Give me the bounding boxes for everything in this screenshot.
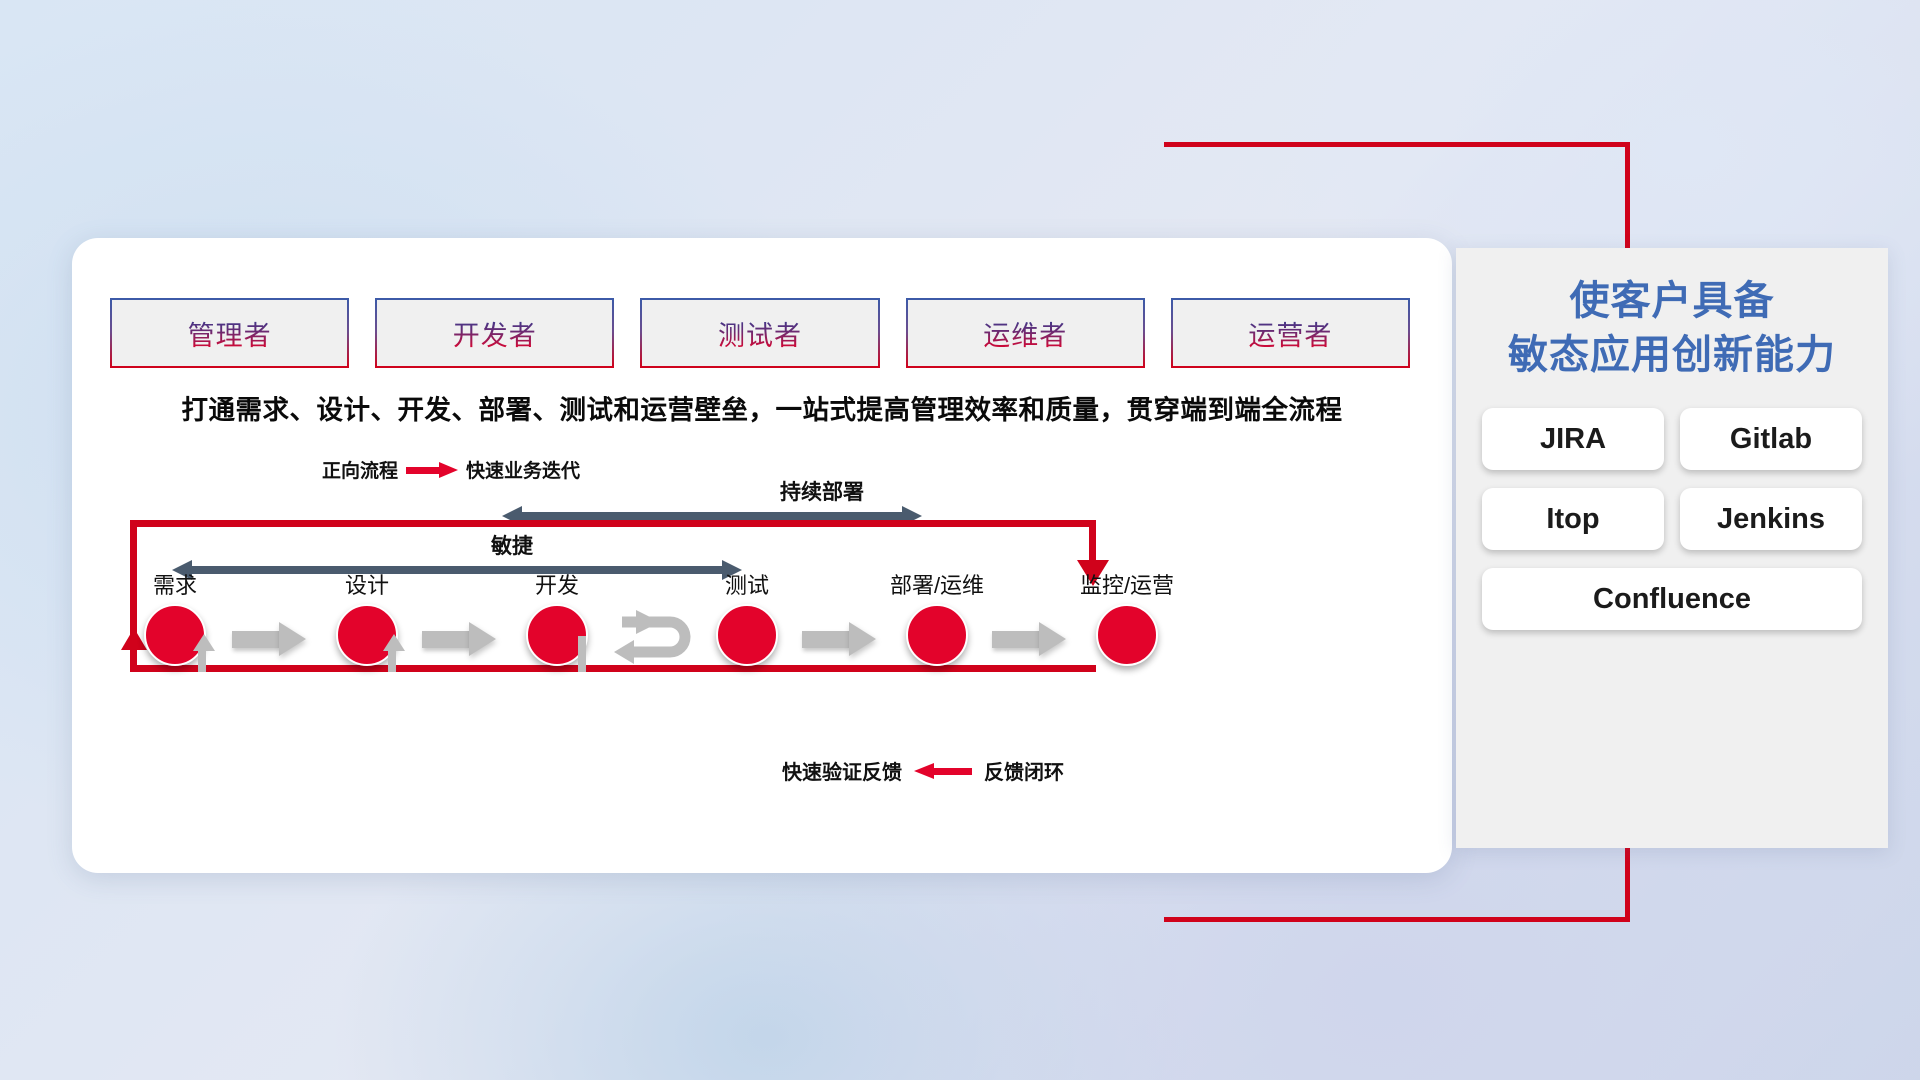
stage-label: 开发 bbox=[492, 568, 622, 600]
arrow-left-red-icon bbox=[914, 763, 972, 779]
stage-monitor-operate[interactable]: 监控/运营 bbox=[1062, 568, 1192, 666]
stage-dot-icon bbox=[716, 604, 778, 666]
stage-dot-icon bbox=[906, 604, 968, 666]
stage-requirement[interactable]: 需求 bbox=[110, 568, 240, 666]
role-box-operations[interactable]: 运维者 bbox=[906, 298, 1145, 368]
main-diagram-card: 管理者 开发者 测试者 运维者 运营者 打通需求、设计、开发、部署、测试和运营壁… bbox=[72, 238, 1452, 873]
role-box-tester[interactable]: 测试者 bbox=[640, 298, 879, 368]
stage-label: 需求 bbox=[110, 568, 240, 600]
stage-deploy-ops[interactable]: 部署/运维 bbox=[872, 568, 1002, 666]
gray-arrow-req-to-design-icon bbox=[232, 622, 306, 656]
stage-dot-icon bbox=[1096, 604, 1158, 666]
role-box-manager[interactable]: 管理者 bbox=[110, 298, 349, 368]
legend-forward-flow-label: 正向流程 bbox=[322, 456, 398, 483]
gray-arrow-deploy-to-monitor-icon bbox=[992, 622, 1066, 656]
tool-chip-jenkins[interactable]: Jenkins bbox=[1680, 488, 1862, 550]
role-box-business-operator[interactable]: 运营者 bbox=[1171, 298, 1410, 368]
stage-label: 部署/运维 bbox=[872, 568, 1002, 600]
role-boxes-row: 管理者 开发者 测试者 运维者 运营者 bbox=[110, 298, 1410, 368]
loopback-curved-arrow-icon bbox=[612, 606, 708, 668]
legend-feedback-loop: 快速验证反馈 反馈闭环 bbox=[782, 756, 1064, 785]
legend-forward-flow: 正向流程 快速业务迭代 bbox=[322, 456, 580, 483]
legend-feedback-label: 反馈闭环 bbox=[984, 756, 1064, 785]
riser-design bbox=[198, 650, 206, 672]
stage-label: 监控/运营 bbox=[1062, 568, 1192, 600]
arrow-shaft bbox=[992, 631, 1040, 648]
riser-head-development-icon bbox=[383, 634, 405, 651]
role-box-developer[interactable]: 开发者 bbox=[375, 298, 614, 368]
role-label: 运维者 bbox=[983, 314, 1067, 353]
arrow-head-right bbox=[469, 622, 496, 656]
role-label: 管理者 bbox=[188, 314, 272, 353]
tool-chip-confluence[interactable]: Confluence bbox=[1482, 568, 1862, 630]
gray-arrow-test-to-deploy-icon bbox=[802, 622, 876, 656]
value-proposition-panel: 使客户具备 敏态应用创新能力 JIRA Gitlab Itop Jenkins … bbox=[1456, 248, 1888, 848]
red-loop-top-rail bbox=[130, 520, 1096, 527]
panel-title-line-2: 敏态应用创新能力 bbox=[1482, 328, 1862, 382]
tool-chip-jira[interactable]: JIRA bbox=[1482, 408, 1664, 470]
stage-label: 测试 bbox=[682, 568, 812, 600]
panel-title: 使客户具备 敏态应用创新能力 bbox=[1482, 274, 1862, 382]
riser-development bbox=[388, 650, 396, 672]
arrow-head-right bbox=[849, 622, 876, 656]
stage-label: 设计 bbox=[302, 568, 432, 600]
legend-forward-flow-result: 快速业务迭代 bbox=[466, 456, 580, 483]
arrow-head-right bbox=[279, 622, 306, 656]
stage-development[interactable]: 开发 bbox=[492, 568, 622, 666]
arrow-shaft bbox=[518, 512, 906, 520]
legend-feedback-result: 快速验证反馈 bbox=[782, 756, 902, 785]
role-label: 运营者 bbox=[1248, 314, 1332, 353]
arrow-shaft bbox=[422, 631, 470, 648]
role-label: 开发者 bbox=[453, 314, 537, 353]
span-label-continuous-deployment: 持续部署 bbox=[672, 476, 972, 506]
tool-chip-itop[interactable]: Itop bbox=[1482, 488, 1664, 550]
gray-arrow-design-to-dev-icon bbox=[422, 622, 496, 656]
span-label-agile: 敏捷 bbox=[302, 530, 722, 560]
panel-title-line-1: 使客户具备 bbox=[1482, 274, 1862, 328]
arrow-shaft bbox=[802, 631, 850, 648]
tools-grid: JIRA Gitlab Itop Jenkins Confluence bbox=[1482, 408, 1862, 630]
riser-head-design-icon bbox=[193, 634, 215, 651]
arrow-head-right bbox=[1039, 622, 1066, 656]
headline-text: 打通需求、设计、开发、部署、测试和运营壁垒，一站式提高管理效率和质量，贯穿端到端… bbox=[72, 388, 1452, 427]
arrow-right-red-icon bbox=[406, 462, 458, 478]
stage-design[interactable]: 设计 bbox=[302, 568, 432, 666]
tool-chip-gitlab[interactable]: Gitlab bbox=[1680, 408, 1862, 470]
role-label: 测试者 bbox=[718, 314, 802, 353]
arrow-shaft bbox=[232, 631, 280, 648]
riser-testing bbox=[578, 636, 586, 672]
